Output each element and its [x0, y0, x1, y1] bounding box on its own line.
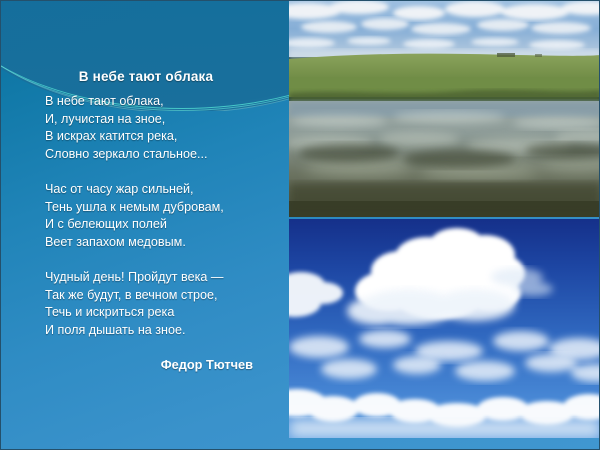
poem-line: Час от часу жар сильней, — [45, 181, 271, 199]
poem-line: Тень ушла к немым дубровам, — [45, 199, 271, 217]
poem-stanza-2: Час от часу жар сильней, Тень ушла к нем… — [45, 181, 271, 251]
blue-sky-clouds-photo — [289, 219, 600, 438]
poem-line: И, лучистая на зное, — [45, 111, 271, 129]
poem-line: И с белеющих полей — [45, 216, 271, 234]
poem-line: В небе тают облака, — [45, 93, 271, 111]
river-landscape-photo — [289, 1, 600, 217]
poem-text-block: В небе тают облака В небе тают облака, И… — [1, 69, 289, 372]
poem-stanza-1: В небе тают облака, И, лучистая на зное,… — [45, 93, 271, 163]
poem-line: Веет запахом медовым. — [45, 234, 271, 252]
poem-stanza-3: Чудный день! Пройдут века — Так же будут… — [45, 269, 271, 339]
poem-line: И поля дышать на зное. — [45, 322, 271, 340]
poem-line: Так же будут, в вечном строе, — [45, 287, 271, 305]
slide-canvas: В небе тают облака В небе тают облака, И… — [0, 0, 600, 450]
poem-title: В небе тают облака — [21, 69, 271, 84]
poem-line: В искрах катится река, — [45, 128, 271, 146]
poem-author: Федор Тютчев — [21, 357, 271, 372]
poem-line: Течь и искриться река — [45, 304, 271, 322]
poem-line: Словно зеркало стальное... — [45, 146, 271, 164]
poem-line: Чудный день! Пройдут века — — [45, 269, 271, 287]
